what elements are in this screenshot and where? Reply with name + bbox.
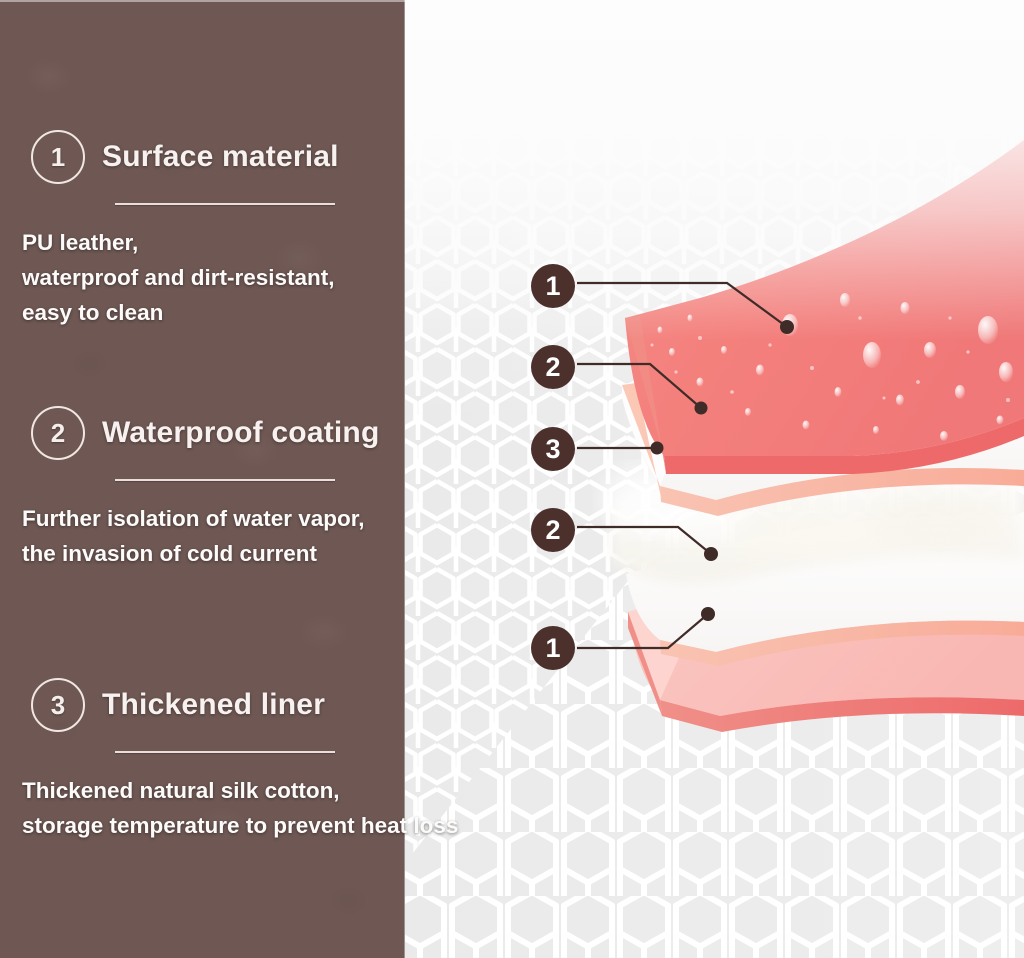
feature-line: waterproof and dirt-resistant, — [22, 260, 620, 295]
feature-heading-3: 3 Thickened liner — [0, 678, 620, 732]
feature-body-1: PU leather, waterproof and dirt-resistan… — [0, 225, 620, 330]
infographic-root: 1 2 3 2 1 1 Surface material PU leather,… — [0, 0, 1024, 958]
feature-divider-1 — [115, 203, 335, 205]
feature-title-3: Thickened liner — [102, 688, 325, 722]
feature-heading-2: 2 Waterproof coating — [0, 406, 620, 460]
feature-title-1: Surface material — [102, 140, 339, 174]
feature-number-2: 2 — [31, 406, 85, 460]
leader-dot-4 — [704, 547, 718, 561]
feature-number-3: 3 — [31, 678, 85, 732]
feature-section-2: 2 Waterproof coating Further isolation o… — [0, 406, 620, 571]
leader-dot-1 — [780, 320, 794, 334]
leader-line-5 — [577, 614, 708, 648]
feature-number-1: 1 — [31, 130, 85, 184]
feature-body-2: Further isolation of water vapor, the in… — [0, 501, 620, 571]
leader-dot-5 — [701, 607, 715, 621]
feature-line: easy to clean — [22, 295, 620, 330]
feature-line: PU leather, — [22, 225, 620, 260]
leader-dot-2 — [695, 402, 708, 415]
leader-dot-3 — [651, 442, 664, 455]
feature-line: the invasion of cold current — [22, 536, 620, 571]
feature-section-1: 1 Surface material PU leather, waterproo… — [0, 130, 620, 330]
feature-divider-3 — [115, 751, 335, 753]
feature-section-3: 3 Thickened liner Thickened natural silk… — [0, 678, 620, 843]
callout-marker-5: 1 — [531, 626, 575, 670]
feature-line: Thickened natural silk cotton, — [22, 773, 620, 808]
feature-divider-2 — [115, 479, 335, 481]
feature-line: Further isolation of water vapor, — [22, 501, 620, 536]
feature-heading-1: 1 Surface material — [0, 130, 620, 184]
feature-title-2: Waterproof coating — [102, 416, 379, 450]
feature-body-3: Thickened natural silk cotton, storage t… — [0, 773, 620, 843]
leader-line-2 — [577, 364, 701, 408]
callout-marker-2: 2 — [531, 345, 575, 389]
feature-line: storage temperature to prevent heat loss — [22, 808, 620, 843]
